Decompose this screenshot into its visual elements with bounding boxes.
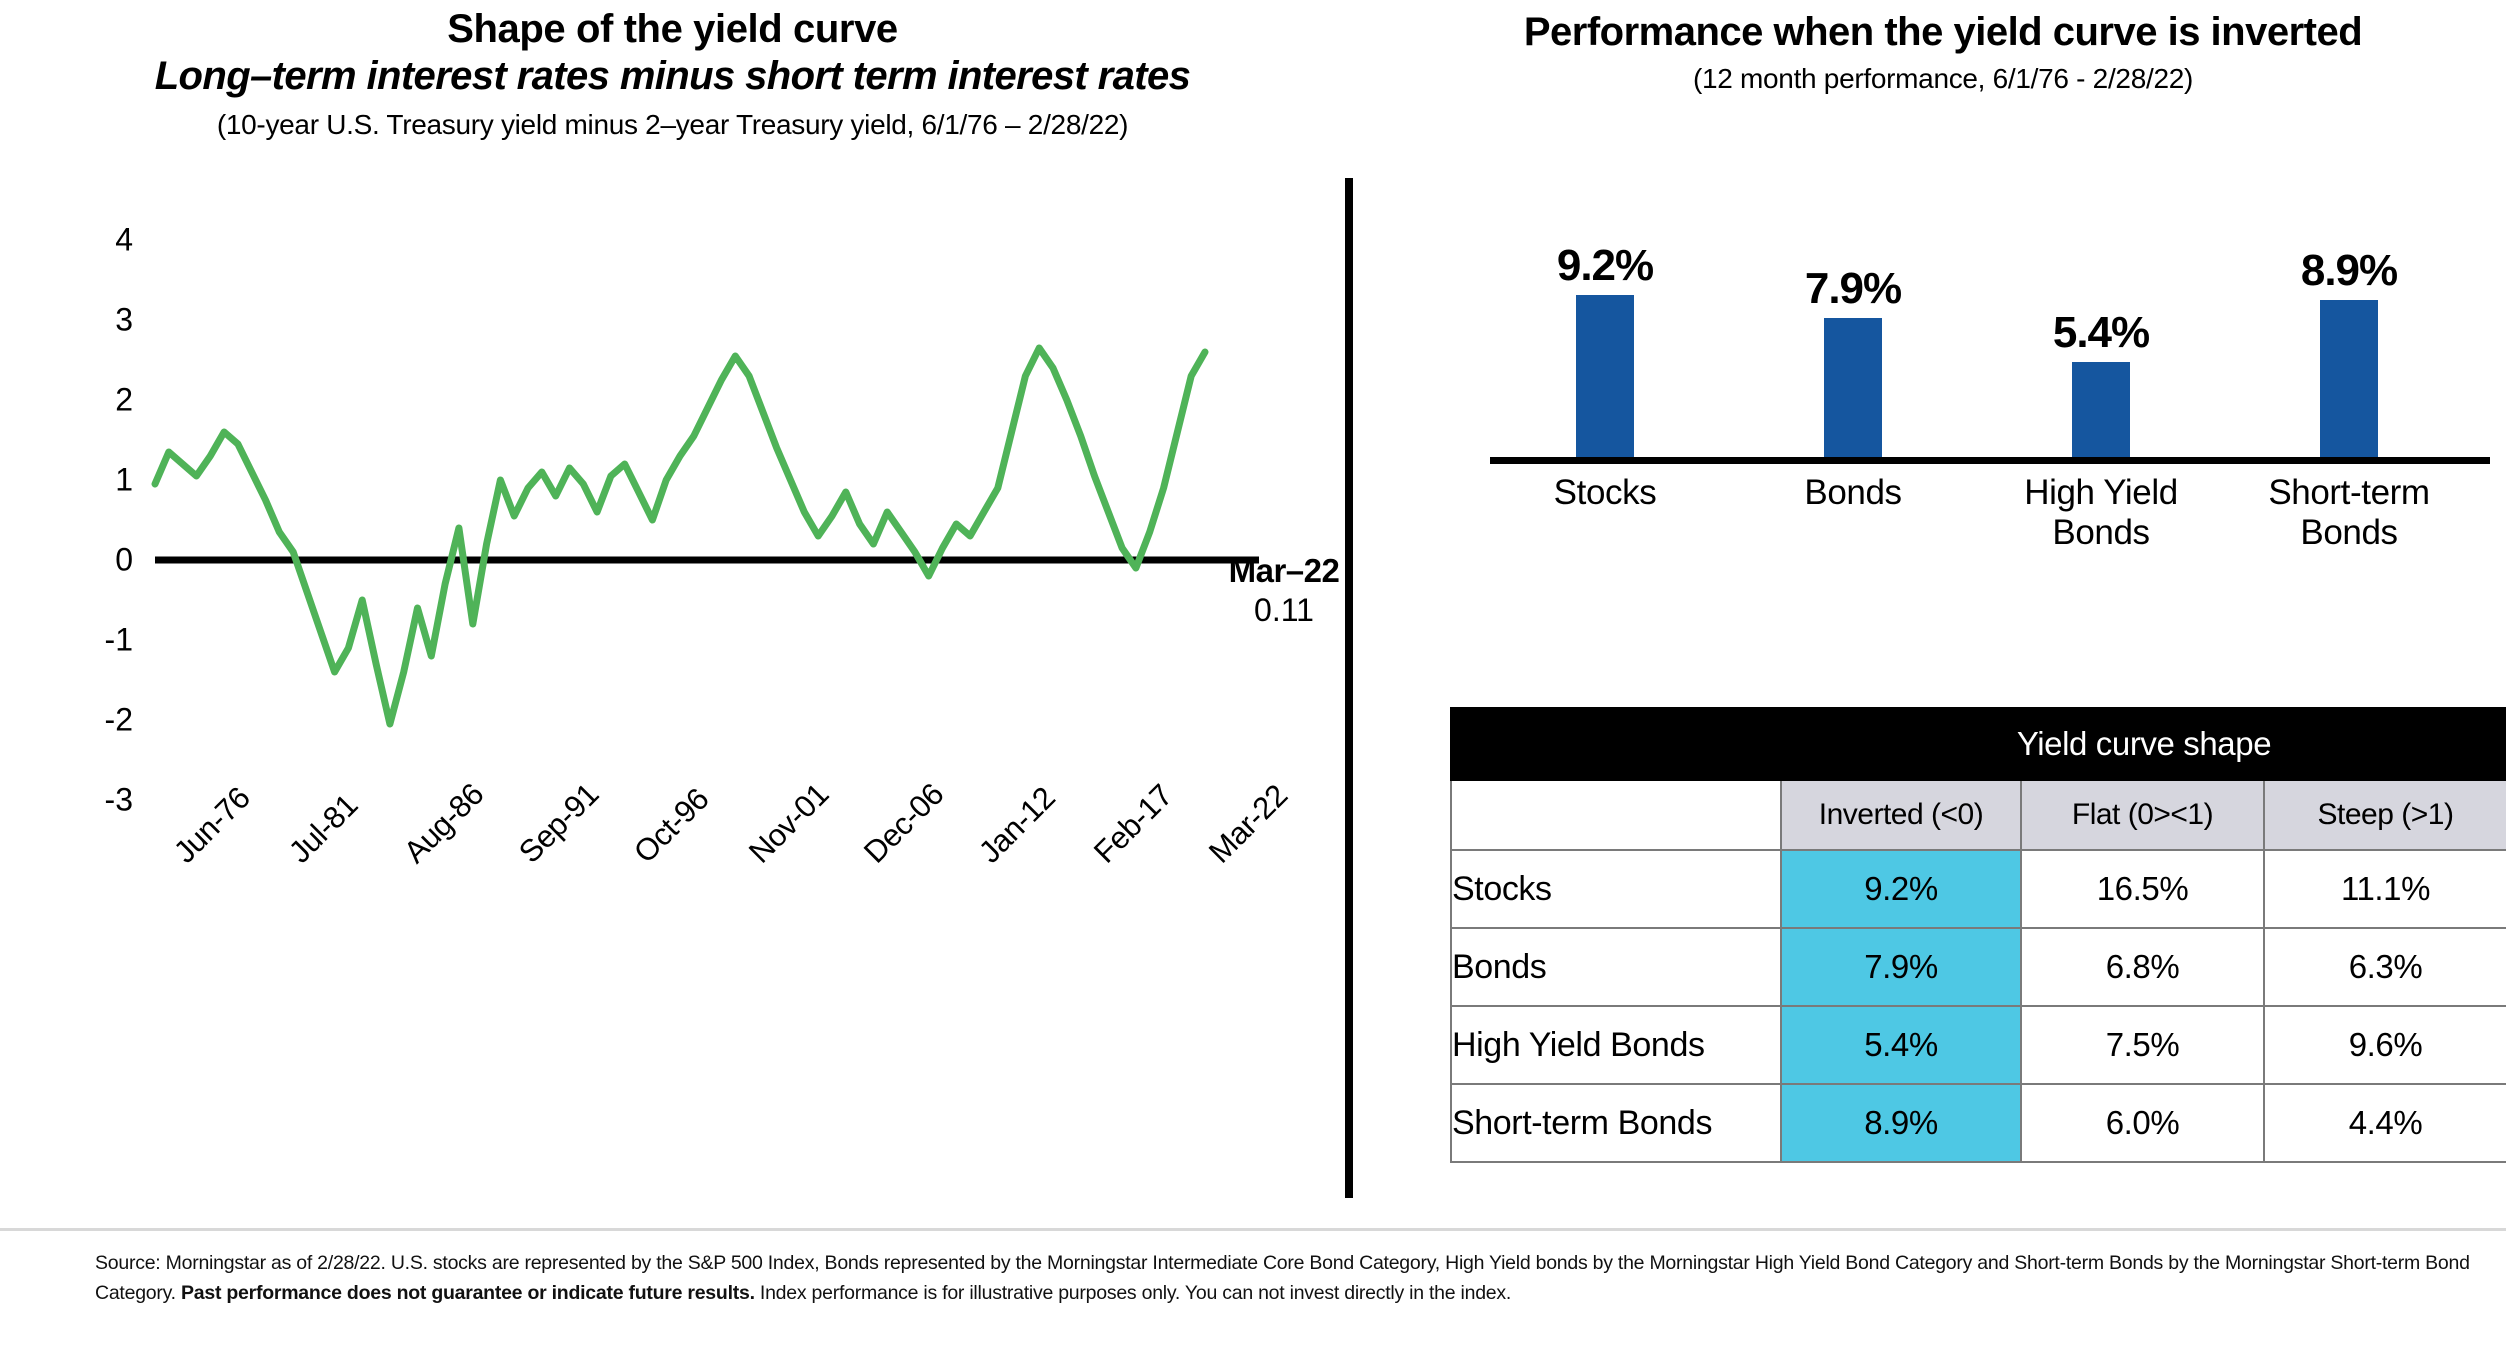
bar-category-line: Short-term (2224, 473, 2474, 513)
y-axis-tick: -2 (105, 701, 155, 738)
cell-stocks-inverted: 9.2% (1781, 850, 2021, 928)
y-axis-tick: 2 (115, 381, 155, 418)
cell-short-term-inverted: 8.9% (1781, 1084, 2021, 1162)
x-axis-labels: Jun-76 Jul-81 Aug-86 Sep-91 Oct-96 Nov-0… (155, 845, 1255, 1045)
yield-curve-line-chart-panel: Shape of the yield curve Long–term inter… (0, 0, 1345, 1215)
column-header-inverted: Inverted (<0) (1781, 780, 2021, 850)
line-chart-plot-area: 4 3 2 1 0 -1 -2 -3 (155, 240, 1205, 800)
table-row: Stocks 9.2% 16.5% 11.1% (1451, 850, 2506, 928)
cell-high-yield-inverted: 5.4% (1781, 1006, 2021, 1084)
bar-chart: 9.2% Stocks 7.9% Bonds 5.4% High Yield B… (1470, 120, 2506, 560)
cell-high-yield-flat: 7.5% (2021, 1006, 2264, 1084)
cell-stocks-flat: 16.5% (2021, 850, 2264, 928)
cell-bonds-inverted: 7.9% (1781, 928, 2021, 1006)
left-chart-subtitle: Long–term interest rates minus short ter… (0, 53, 1345, 100)
footnote-text: Source: Morningstar as of 2/28/22. U.S. … (95, 1248, 2475, 1308)
bar-column-stocks: 9.2% Stocks (1480, 241, 1730, 457)
y-axis-tick: 3 (115, 301, 155, 338)
column-header-flat: Flat (0><1) (2021, 780, 2264, 850)
table-row: Short-term Bonds 8.9% 6.0% 4.4% (1451, 1084, 2506, 1162)
bar-category-label: Stocks (1480, 457, 1730, 513)
y-axis-tick: -1 (105, 621, 155, 658)
left-chart-title: Shape of the yield curve (0, 8, 1345, 51)
cell-short-term-flat: 6.0% (2021, 1084, 2264, 1162)
bar-rect (2072, 362, 2130, 457)
y-axis-tick: -3 (105, 782, 155, 819)
x-axis-tick: Mar-22 (1202, 778, 1295, 871)
right-chart-subtitle: (12 month performance, 6/1/76 - 2/28/22) (1380, 63, 2506, 95)
cell-stocks-steep: 11.1% (2264, 850, 2506, 928)
table-group-header: Yield curve shape (1781, 708, 2506, 780)
cell-bonds-steep: 6.3% (2264, 928, 2506, 1006)
bar-value-label: 8.9% (2224, 246, 2474, 296)
inverted-performance-panel: Performance when the yield curve is inve… (1380, 0, 2506, 1215)
bar-category-line: Stocks (1480, 473, 1730, 513)
row-label-stocks: Stocks (1451, 850, 1781, 928)
bar-column-short-term-bonds: 8.9% Short-term Bonds (2224, 246, 2474, 457)
table-row: High Yield Bonds 5.4% 7.5% 9.6% (1451, 1006, 2506, 1084)
table-row: Bonds 7.9% 6.8% 6.3% (1451, 928, 2506, 1006)
table-corner-cell (1451, 708, 1781, 780)
column-header-steep: Steep (>1) (2264, 780, 2506, 850)
bar-category-label: High Yield Bonds (1976, 457, 2226, 554)
bar-category-line: Bonds (1976, 513, 2226, 553)
endpoint-value: 0.11 (1209, 592, 1359, 629)
bar-category-line: Bonds (1728, 473, 1978, 513)
row-label-bonds: Bonds (1451, 928, 1781, 1006)
y-axis-tick: 0 (115, 541, 155, 578)
bar-category-line: High Yield (1976, 473, 2226, 513)
right-chart-title: Performance when the yield curve is inve… (1380, 10, 2506, 54)
footnote-bold: Past performance does not guarantee or i… (181, 1282, 755, 1304)
left-chart-titles: Shape of the yield curve Long–term inter… (0, 0, 1345, 144)
line-chart: 4 3 2 1 0 -1 -2 -3 Jun-76 Jul-81 Aug-86 … (0, 200, 1345, 1210)
yield-curve-shape-table: Yield curve shape Inverted (<0) Flat (0>… (1450, 707, 2506, 1163)
bar-category-label: Bonds (1728, 457, 1978, 513)
table-group-header-row: Yield curve shape (1451, 708, 2506, 780)
bar-category-line: Bonds (2224, 513, 2474, 553)
bar-rect (1576, 295, 1634, 457)
bar-column-high-yield-bonds: 5.4% High Yield Bonds (1976, 308, 2226, 457)
endpoint-date: Mar–22 (1209, 552, 1359, 590)
row-label-high-yield-bonds: High Yield Bonds (1451, 1006, 1781, 1084)
bar-value-label: 7.9% (1728, 264, 1978, 314)
yield-spread-line (155, 240, 1205, 800)
cell-high-yield-steep: 9.6% (2264, 1006, 2506, 1084)
right-chart-titles: Performance when the yield curve is inve… (1380, 0, 2506, 95)
footnote-part2: Index performance is for illustrative pu… (755, 1282, 1511, 1304)
table-column-header-row: Inverted (<0) Flat (0><1) Steep (>1) (1451, 780, 2506, 850)
table-corner-cell-2 (1451, 780, 1781, 850)
bar-rect (1824, 318, 1882, 457)
footnote-divider (0, 1228, 2506, 1231)
bar-column-bonds: 7.9% Bonds (1728, 264, 1978, 457)
bar-value-label: 9.2% (1480, 241, 1730, 291)
y-axis-tick: 4 (115, 222, 155, 259)
cell-bonds-flat: 6.8% (2021, 928, 2264, 1006)
row-label-short-term-bonds: Short-term Bonds (1451, 1084, 1781, 1162)
cell-short-term-steep: 4.4% (2264, 1084, 2506, 1162)
bar-rect (2320, 300, 2378, 457)
bar-value-label: 5.4% (1976, 308, 2226, 358)
endpoint-annotation: Mar–22 0.11 (1209, 552, 1359, 629)
panel-divider (1345, 178, 1353, 1198)
bar-category-label: Short-term Bonds (2224, 457, 2474, 554)
left-chart-caption: (10-year U.S. Treasury yield minus 2–yea… (0, 107, 1345, 143)
y-axis-tick: 1 (115, 461, 155, 498)
